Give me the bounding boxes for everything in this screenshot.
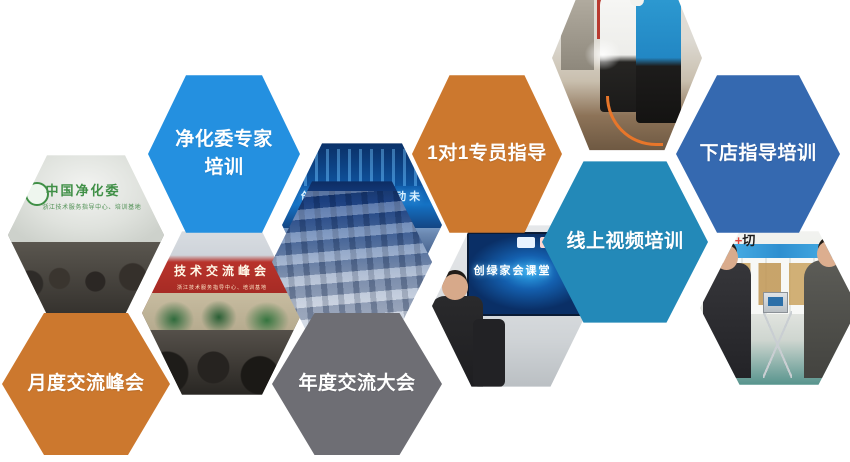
hex-tile-monthly-exchange-summit[interactable]: 月度交流峰会 (2, 310, 170, 458)
summit-banner-subtitle: 浙江技术服务指导中心、培训基地 (155, 284, 289, 291)
screen-title: 创绿家会课堂 (474, 262, 556, 278)
hex-label-online-video-training: 线上视频培训 (552, 228, 697, 256)
hex-tile-purification-expert-training[interactable]: 净化委专家 培训 (148, 72, 300, 236)
hex-label-monthly-exchange-summit: 月度交流峰会 (13, 370, 158, 398)
client-right-head (817, 241, 840, 267)
tripod-stand (763, 311, 791, 378)
photo-hex-instrument-inspection-demo: +切 (700, 228, 850, 388)
meeting-room-org-name: 中国净化委 (45, 180, 120, 199)
inspector-left (703, 263, 750, 378)
hex-label-one-on-one-guidance: 1对1专员指导 (413, 140, 561, 168)
meeting-room-seats (8, 242, 164, 318)
meeting-room-org-sub: 浙江技术服务指导中心、培训基地 (42, 202, 141, 211)
detector-screen (768, 297, 783, 306)
client-right (804, 260, 850, 378)
hex-label-purification-expert-training: 净化委专家 培训 (161, 126, 287, 181)
showroom-top-mark-text: 切 (742, 233, 755, 248)
spray-hose (606, 96, 663, 146)
presenter-head (442, 274, 468, 299)
hex-label-store-visit-training: 下店指导培训 (685, 140, 830, 168)
air-quality-detector (763, 292, 788, 313)
hex-label-annual-exchange-conference: 年度交流大会 (284, 370, 429, 398)
photo-hex-training-base-meeting-room: 中国净化委 浙江技术服务指导中心、培训基地 (8, 152, 164, 318)
screen-badge-left (517, 237, 535, 248)
hex-tile-annual-exchange-conference[interactable]: 年度交流大会 (272, 310, 442, 458)
spray-mist (585, 39, 621, 70)
classroom-chair (473, 319, 505, 386)
hexagon-grid-canvas: 中国净化委 浙江技术服务指导中心、培训基地 创新时代 绿动未来 创绿家2017年… (0, 0, 850, 462)
inspector-left-head (715, 245, 738, 270)
photo-hex-on-site-spray-demo (552, 0, 702, 154)
hex-tile-store-visit-training[interactable]: 下店指导培训 (676, 72, 840, 236)
